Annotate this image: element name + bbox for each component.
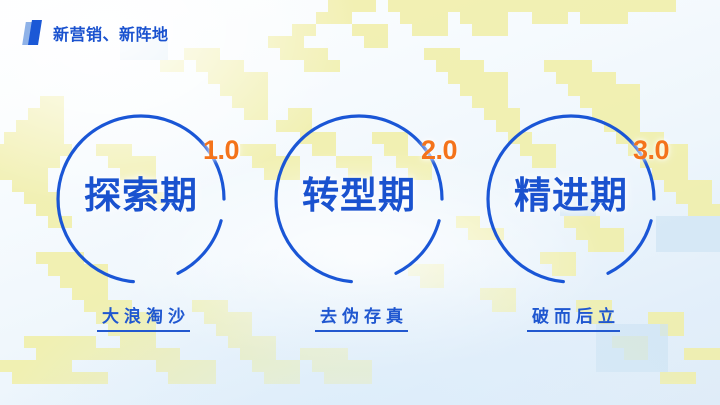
stage-version: 2.0 xyxy=(421,135,457,166)
stage-caption-text: 破而后立 xyxy=(527,306,620,332)
stage-caption-2: 去伪存真 xyxy=(268,306,450,332)
page-title: 新营销、新阵地 xyxy=(53,21,169,45)
stage-version: 1.0 xyxy=(203,135,239,166)
stage-item-1[interactable]: 探索期 1.0 xyxy=(50,108,232,293)
stage-label: 转型期 xyxy=(268,174,450,218)
slanted-bar-icon xyxy=(24,20,44,45)
stage-item-3[interactable]: 精进期 3.0 xyxy=(480,108,662,293)
stage-caption-1: 大浪淘沙 xyxy=(50,306,232,332)
stage-item-2[interactable]: 转型期 2.0 xyxy=(268,108,450,293)
stage-label: 探索期 xyxy=(50,174,232,218)
slide-header: 新营销、新阵地 xyxy=(24,20,169,45)
stage-caption-3: 破而后立 xyxy=(480,306,662,332)
slide-canvas: 新营销、新阵地 探索期 1.0 转型期 2.0 xyxy=(0,0,720,405)
stage-label: 精进期 xyxy=(480,174,662,218)
stage-caption-row: 大浪淘沙 去伪存真 破而后立 xyxy=(0,306,720,336)
stage-version: 3.0 xyxy=(633,135,669,166)
stage-caption-text: 大浪淘沙 xyxy=(97,306,190,332)
stage-caption-text: 去伪存真 xyxy=(315,306,408,332)
stage-circle-row: 探索期 1.0 转型期 2.0 精进期 3.0 xyxy=(0,108,720,293)
